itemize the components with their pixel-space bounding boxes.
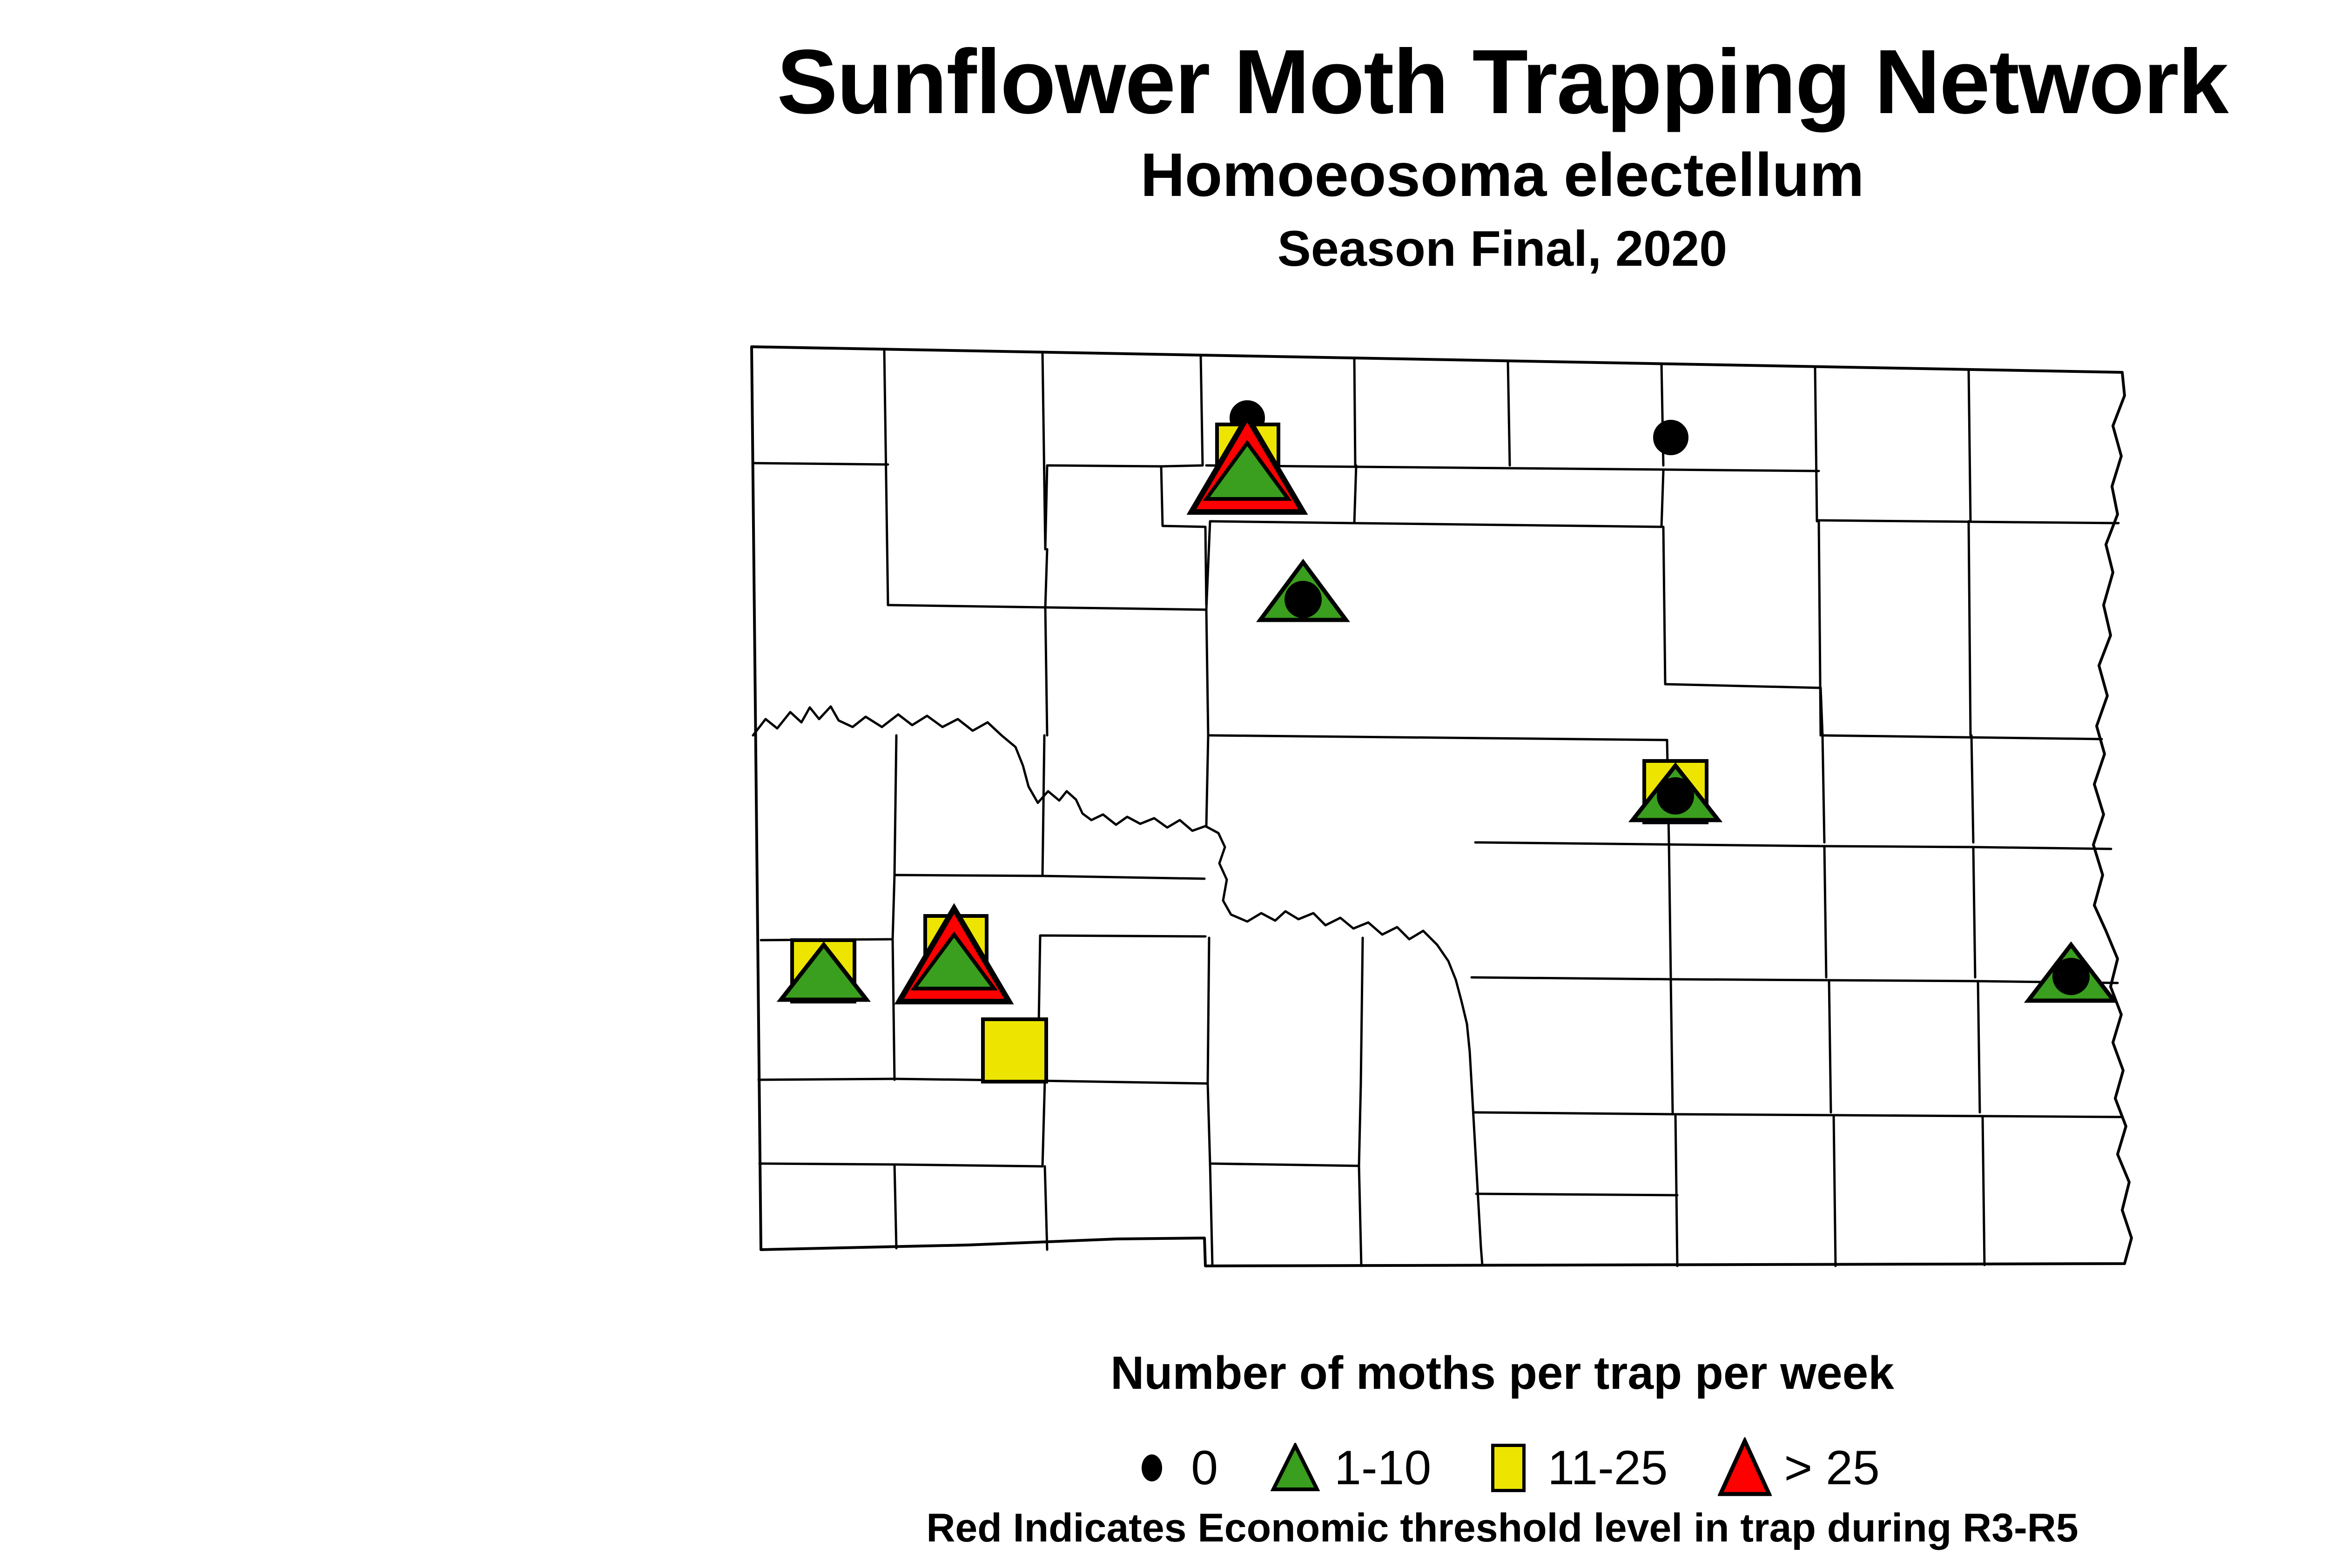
marker-square-icon: [983, 1019, 1046, 1082]
legend-triangle-low-icon: [1268, 1441, 1322, 1495]
site-east-central[interactable]: [1633, 761, 1718, 822]
page-title: Sunflower Moth Trapping Network: [0, 36, 2327, 128]
legend-item-low[interactable]: 1-10: [1268, 1441, 1431, 1495]
legend-heading: Number of moths per trap per week: [0, 1350, 2327, 1396]
site-southwest-central[interactable]: [899, 908, 1009, 1002]
legend-dot-icon: [1125, 1441, 1179, 1495]
species-subtitle: Homoeosoma electellum: [0, 144, 2327, 206]
missouri-river: [1205, 826, 1482, 1265]
marker-dot-icon: [2053, 959, 2089, 994]
lake-sakakawea-shore: [753, 707, 1205, 831]
legend-items: 0 1-10 11-25 > 25: [0, 1441, 2327, 1495]
site-north-mid[interactable]: [1260, 562, 1346, 620]
county-boundaries: [752, 347, 2132, 1266]
state-outline: [752, 347, 2132, 1266]
site-south-central[interactable]: [983, 1019, 1046, 1082]
legend-label-high: > 25: [1784, 1444, 1879, 1492]
marker-dot-icon: [1654, 421, 1688, 454]
site-southwest-west[interactable]: [781, 940, 867, 1002]
legend-item-high[interactable]: > 25: [1718, 1441, 1879, 1495]
legend-label-medium: 11-25: [1547, 1444, 1668, 1492]
legend-triangle-high-icon: [1718, 1441, 1772, 1495]
title-block: Sunflower Moth Trapping Network Homoeoso…: [0, 0, 2327, 274]
marker-dot-icon: [1658, 778, 1693, 814]
legend: Number of moths per trap per week 0 1-10…: [0, 1350, 2327, 1495]
site-far-east[interactable]: [2028, 945, 2114, 1001]
site-northeast-zero[interactable]: [1654, 421, 1688, 454]
legend-square-icon: [1481, 1441, 1535, 1495]
legend-item-zero[interactable]: 0: [1125, 1441, 1218, 1495]
marker-dot-icon: [1285, 582, 1321, 617]
legend-label-low: 1-10: [1334, 1444, 1431, 1492]
legend-item-medium[interactable]: 11-25: [1481, 1441, 1668, 1495]
legend-footnote: Red Indicates Economic threshold level i…: [0, 1508, 2327, 1548]
north-dakota-map: [670, 326, 2262, 1331]
site-north-central[interactable]: [1191, 401, 1303, 512]
legend-label-zero: 0: [1191, 1444, 1218, 1492]
season-subtitle: Season Final, 2020: [0, 223, 2327, 274]
